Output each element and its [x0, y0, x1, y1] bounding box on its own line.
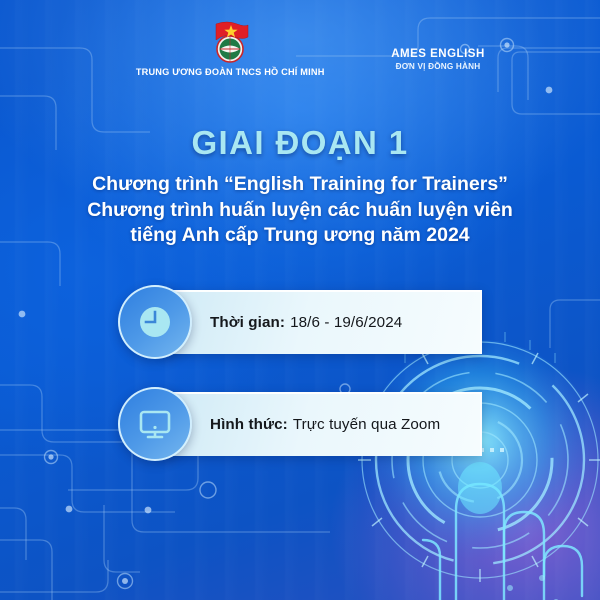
partner-block: AMES ENGLISH ĐƠN VỊ ĐỒNG HÀNH — [391, 18, 485, 71]
info-card-icon-bubble — [118, 387, 192, 461]
monitor-icon — [135, 404, 175, 444]
partner-subtitle: ĐƠN VỊ ĐỒNG HÀNH — [396, 62, 481, 71]
organization-block: TRUNG ƯƠNG ĐOÀN TNCS HỒ CHÍ MINH — [115, 18, 345, 77]
info-card-value: 18/6 - 19/6/2024 — [290, 314, 402, 331]
poster-header: TRUNG ƯƠNG ĐOÀN TNCS HỒ CHÍ MINH AMES EN… — [0, 18, 600, 77]
info-card-time: Thời gian: 18/6 - 19/6/2024 — [118, 290, 482, 354]
program-subtitle: Chương trình “English Training for Train… — [42, 172, 558, 249]
info-card-icon-bubble — [118, 285, 192, 359]
subtitle-line-2: Chương trình huấn luyện các huấn luyện v… — [42, 198, 558, 224]
info-card-label: Thời gian: — [210, 314, 285, 331]
clock-icon — [135, 302, 175, 342]
info-card-text: Thời gian: 18/6 - 19/6/2024 — [210, 290, 468, 354]
fingerprint-touch-hud-icon — [330, 320, 600, 600]
subtitle-line-1: Chương trình “English Training for Train… — [42, 172, 558, 198]
subtitle-line-3: tiếng Anh cấp Trung ương năm 2024 — [42, 223, 558, 249]
info-card-value: Trực tuyến qua Zoom — [293, 416, 440, 433]
stage-title: GIAI ĐOẠN 1 — [0, 124, 600, 162]
info-card-mode: Hình thức: Trực tuyến qua Zoom — [118, 392, 482, 456]
hcm-youth-union-emblem-icon — [207, 18, 253, 64]
poster-canvas: TRUNG ƯƠNG ĐOÀN TNCS HỒ CHÍ MINH AMES EN… — [0, 0, 600, 600]
org-name: TRUNG ƯƠNG ĐOÀN TNCS HỒ CHÍ MINH — [136, 67, 325, 77]
info-card-label: Hình thức: — [210, 416, 288, 433]
info-card-text: Hình thức: Trực tuyến qua Zoom — [210, 392, 468, 456]
partner-name: AMES ENGLISH — [391, 48, 485, 60]
